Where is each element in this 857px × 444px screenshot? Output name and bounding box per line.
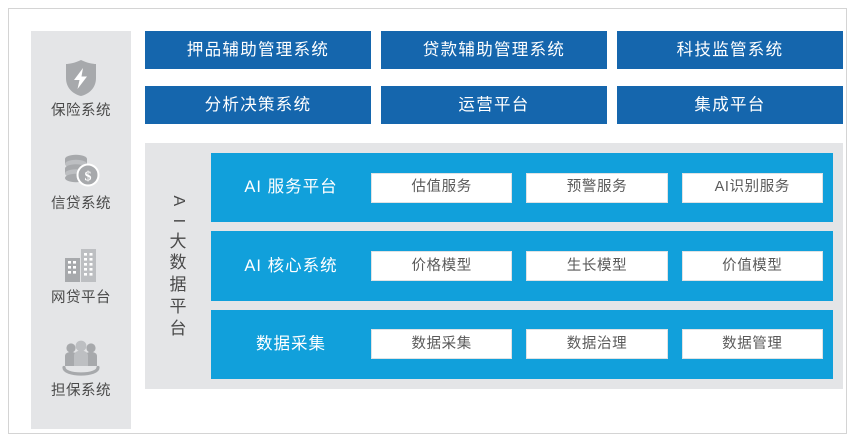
vertical-char: 大 (170, 232, 187, 253)
buildings-icon (58, 243, 104, 287)
platform-row-cards: 价格模型 生长模型 价值模型 (371, 251, 823, 281)
platform-card[interactable]: 生长模型 (526, 251, 667, 281)
sidebar: 保险系统 $ 信贷系统 (31, 31, 131, 429)
platform-row-title: AI 服务平台 (211, 179, 371, 196)
platform-card[interactable]: 估值服务 (371, 173, 512, 203)
platform-card[interactable]: 预警服务 (526, 173, 667, 203)
platform-card[interactable]: 价值模型 (682, 251, 823, 281)
people-group-icon (58, 336, 104, 380)
platform-row-title: AI 核心系统 (211, 258, 371, 275)
vertical-char: 台 (170, 319, 187, 340)
vertical-char: 平 (170, 297, 187, 318)
sidebar-item-label: 担保系统 (51, 384, 111, 400)
top-systems-row-2: 分析决策系统 运营平台 集成平台 (145, 86, 843, 124)
platform-card[interactable]: 价格模型 (371, 251, 512, 281)
vertical-char: 数 (170, 253, 187, 274)
system-button-loan-aux[interactable]: 贷款辅助管理系统 (381, 31, 607, 69)
architecture-diagram: 保险系统 $ 信贷系统 (0, 0, 857, 444)
vertical-char: 据 (170, 275, 187, 296)
system-button-collateral-aux[interactable]: 押品辅助管理系统 (145, 31, 371, 69)
system-button-tech-supervision[interactable]: 科技监管系统 (617, 31, 843, 69)
svg-text:$: $ (85, 170, 92, 185)
sidebar-item-label: 保险系统 (51, 104, 111, 120)
main-content: 押品辅助管理系统 贷款辅助管理系统 科技监管系统 分析决策系统 运营平台 集成平… (145, 31, 843, 429)
vertical-char: A (169, 195, 187, 206)
sidebar-item-label: 信贷系统 (51, 197, 111, 213)
platform-row-cards: 数据采集 数据治理 数据管理 (371, 329, 823, 359)
system-button-analysis-decision[interactable]: 分析决策系统 (145, 86, 371, 124)
coins-dollar-icon: $ (58, 149, 104, 193)
vertical-char: I (169, 219, 187, 223)
platform-vertical-label: A I 大 数 据 平 台 (145, 153, 211, 379)
platform-row-ai-core: AI 核心系统 价格模型 生长模型 价值模型 (211, 231, 833, 300)
platform-card[interactable]: AI识别服务 (682, 173, 823, 203)
system-button-operations-platform[interactable]: 运营平台 (381, 86, 607, 124)
platform-row-data-collection: 数据采集 数据采集 数据治理 数据管理 (211, 310, 833, 379)
platform-rows: AI 服务平台 估值服务 预警服务 AI识别服务 AI 核心系统 价格模型 生长… (211, 153, 833, 379)
sidebar-item-label: 网贷平台 (51, 291, 111, 307)
platform-card[interactable]: 数据治理 (526, 329, 667, 359)
platform-row-cards: 估值服务 预警服务 AI识别服务 (371, 173, 823, 203)
ai-bigdata-platform-panel: A I 大 数 据 平 台 AI 服务平台 估值服务 预警服务 AI识别服务 (145, 143, 843, 389)
top-systems-row-1: 押品辅助管理系统 贷款辅助管理系统 科技监管系统 (145, 31, 843, 69)
shield-bolt-icon (58, 56, 104, 100)
sidebar-item-online-loan[interactable]: 网贷平台 (31, 243, 131, 307)
sidebar-item-guarantee[interactable]: 担保系统 (31, 336, 131, 400)
platform-card[interactable]: 数据采集 (371, 329, 512, 359)
platform-row-title: 数据采集 (211, 336, 371, 353)
diagram-frame: 保险系统 $ 信贷系统 (8, 8, 847, 434)
platform-row-ai-service: AI 服务平台 估值服务 预警服务 AI识别服务 (211, 153, 833, 222)
system-button-integration-platform[interactable]: 集成平台 (617, 86, 843, 124)
platform-card[interactable]: 数据管理 (682, 329, 823, 359)
sidebar-item-insurance[interactable]: 保险系统 (31, 56, 131, 120)
sidebar-item-credit[interactable]: $ 信贷系统 (31, 149, 131, 213)
